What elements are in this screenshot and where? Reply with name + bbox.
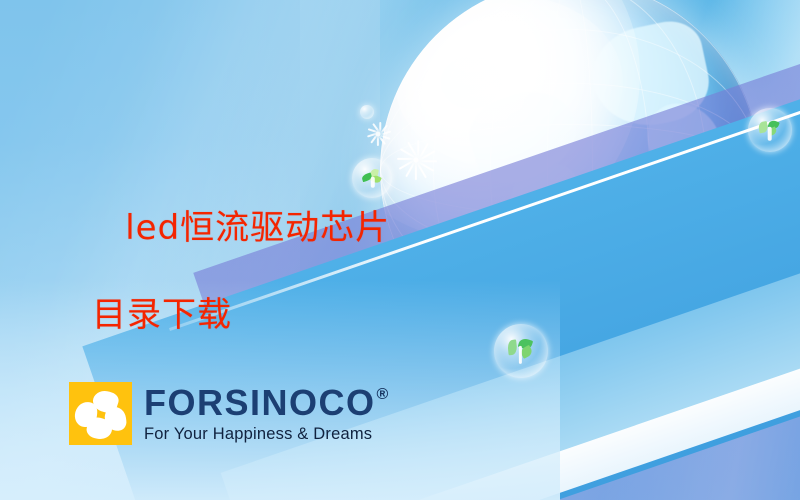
brand-name-row: FORSINOCO ®: [144, 385, 390, 421]
brand-tagline: For Your Happiness & Dreams: [144, 426, 390, 443]
bubble-windmill-right-icon: [748, 108, 792, 152]
company-logo[interactable]: FORSINOCO ® For Your Happiness & Dreams: [69, 382, 390, 445]
bubble-windmill-center-icon: [494, 324, 548, 378]
logo-text-block: FORSINOCO ® For Your Happiness & Dreams: [144, 385, 390, 443]
brand-name: FORSINOCO: [144, 385, 376, 421]
starburst-small-icon: [366, 122, 390, 146]
headline-line-2: 目录下载: [78, 294, 438, 338]
forsinoco-pinwheel-icon: [69, 382, 132, 445]
bubble-small-upper-icon: [360, 105, 374, 119]
headline-line-1: led恒流驱动芯片: [125, 208, 390, 248]
registered-trademark-icon: ®: [377, 387, 390, 403]
banner-image: led恒流驱动芯片 目录下载 FORSINOCO ® For Your Happ…: [0, 0, 800, 500]
